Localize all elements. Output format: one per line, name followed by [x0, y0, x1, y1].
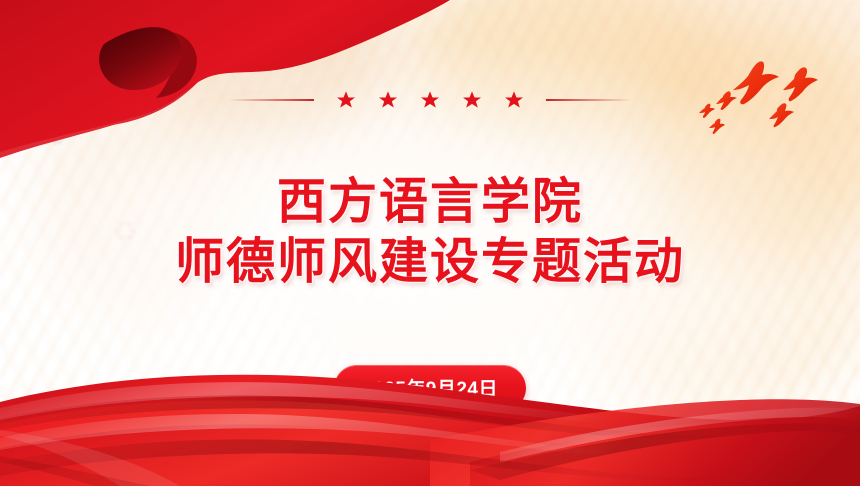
bottom-ribbon-group	[0, 0, 860, 486]
title-slide: ♻ ♻	[0, 0, 860, 486]
